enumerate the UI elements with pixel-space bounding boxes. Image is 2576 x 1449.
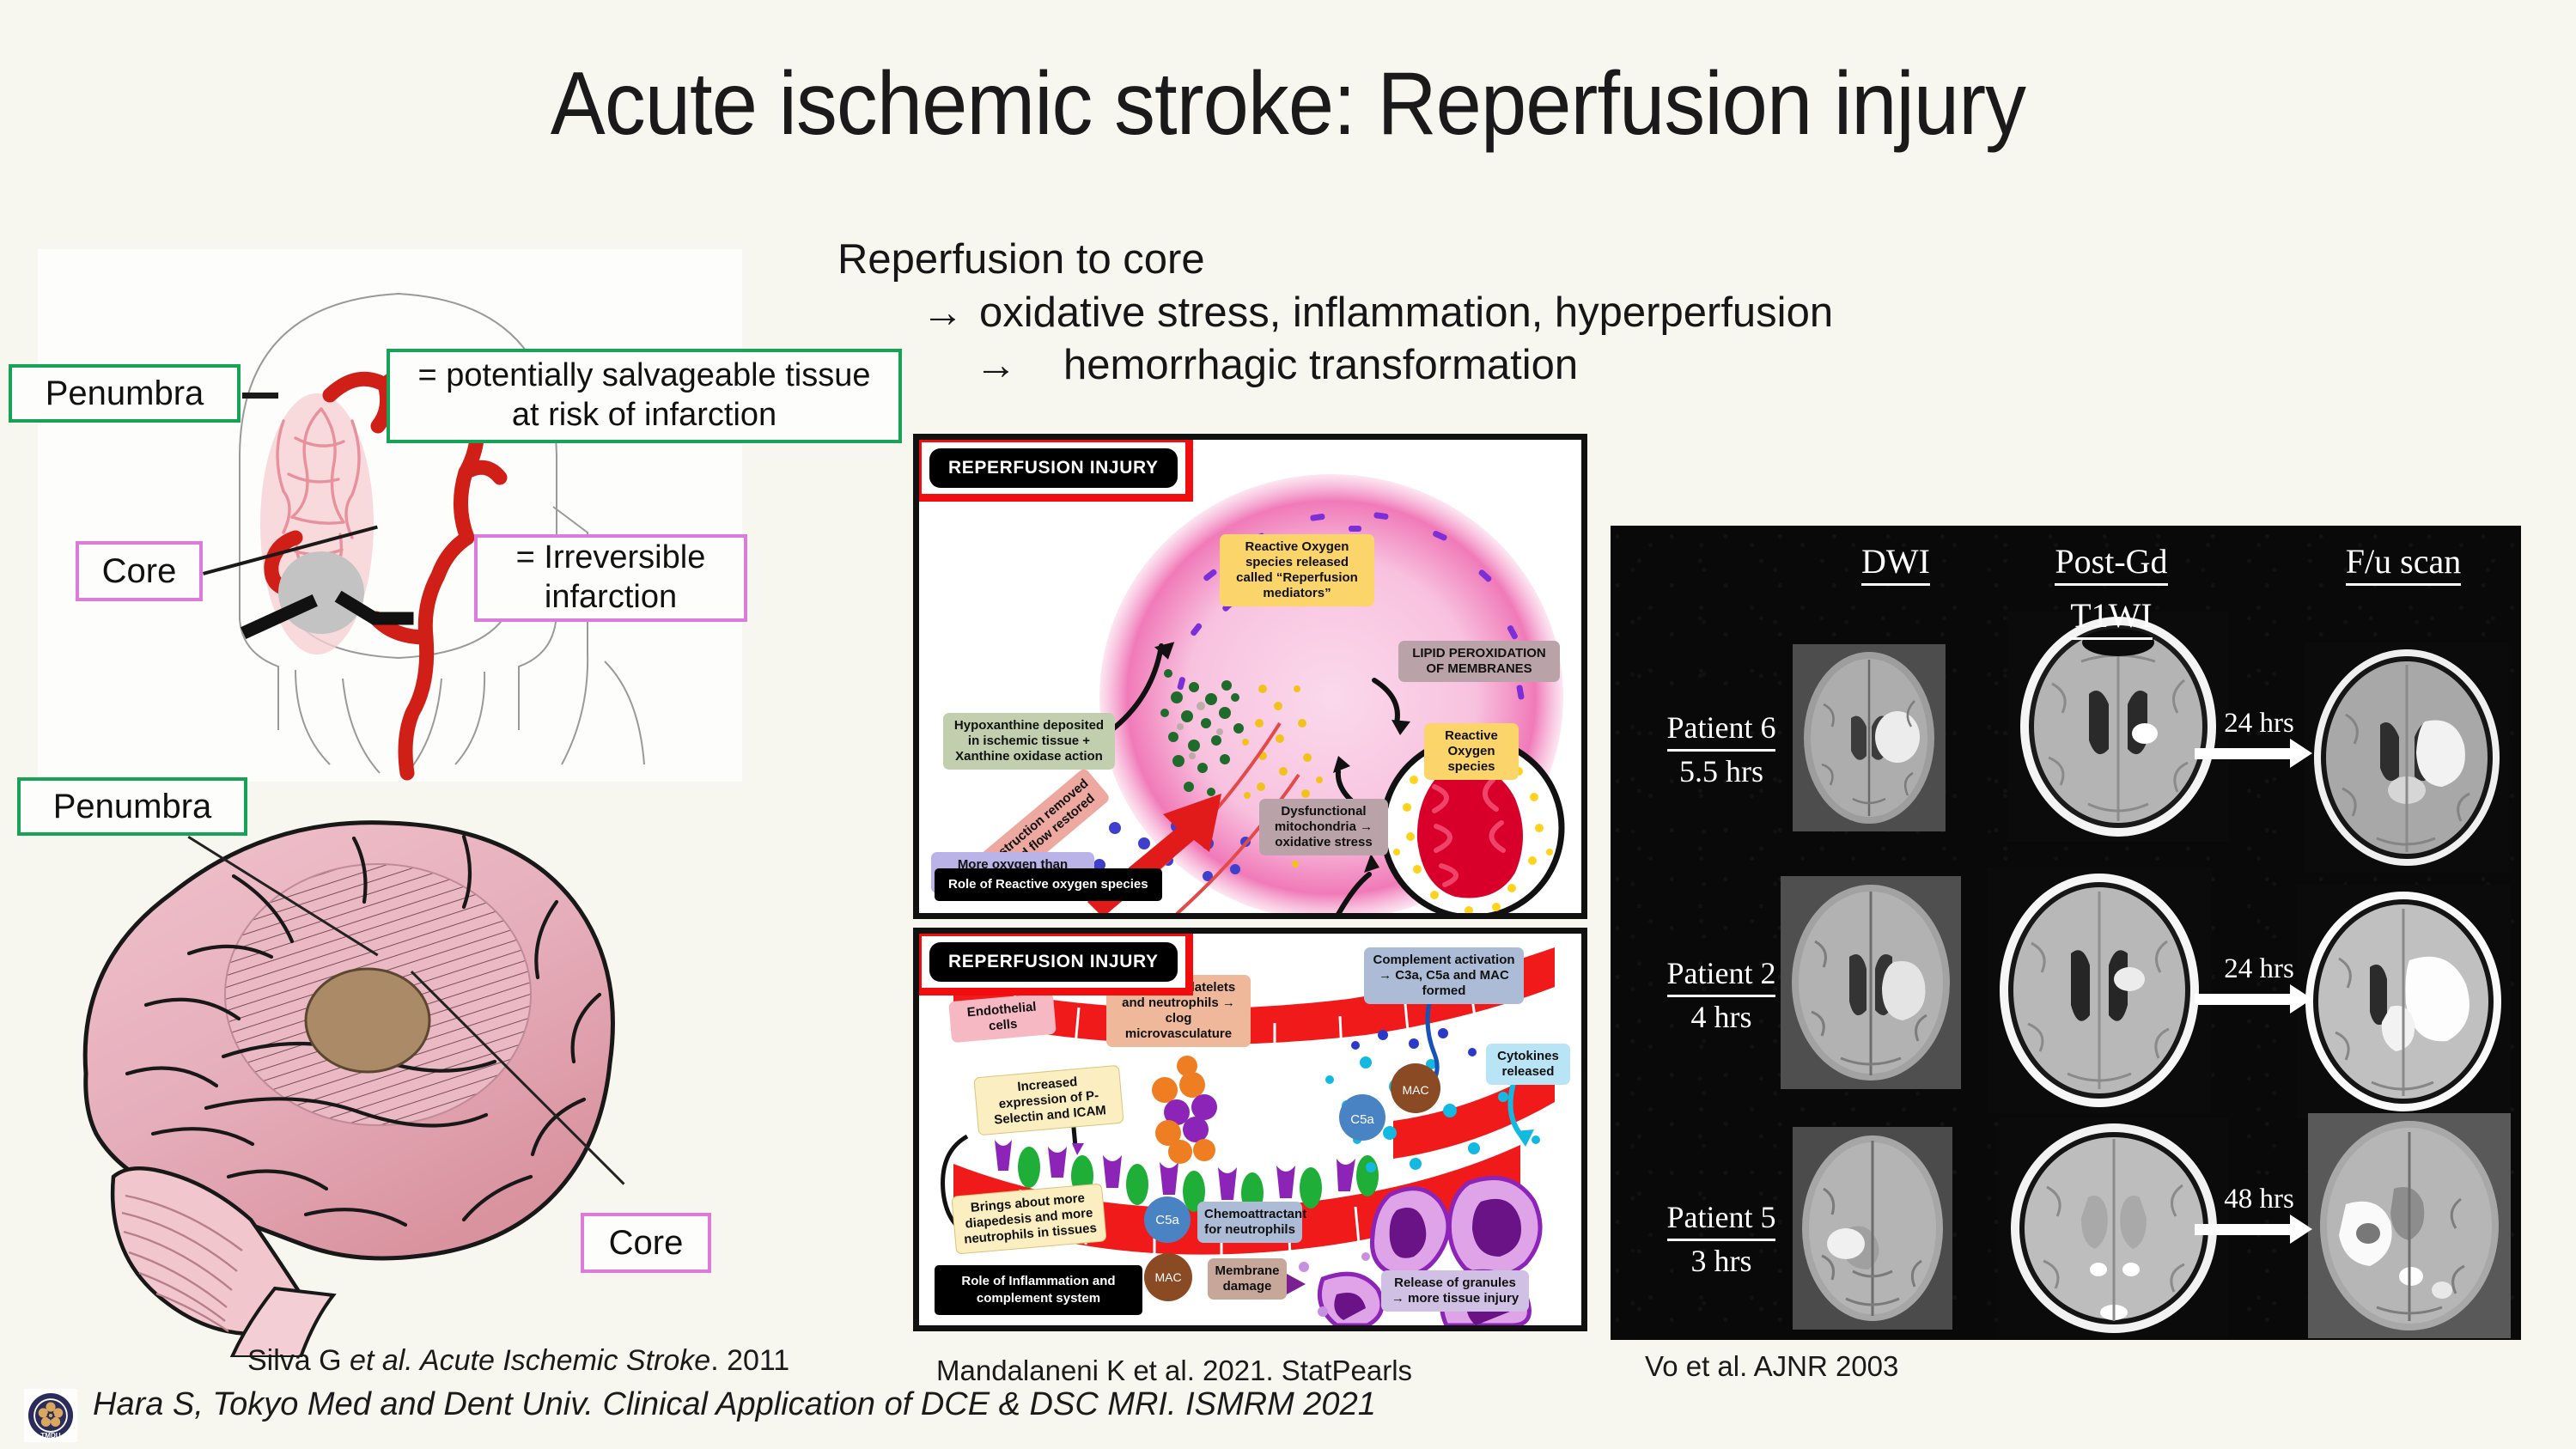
reperfusion-injury-inflammation-figure: C5a MAC	[913, 928, 1587, 1331]
body-text-block: Reperfusion to core →oxidative stress, i…	[837, 234, 1833, 393]
mri-column-header-t1wi-label: T1WI	[2070, 595, 2153, 640]
arrow-right-icon	[2195, 748, 2291, 759]
mri-arrow-p6: 24 hrs	[2195, 708, 2323, 759]
tag-dysfunctional-mitochondria: Dysfunctional mitochondria → oxidative s…	[1259, 799, 1388, 855]
mri-column-header-postgd-label: Post-Gd	[2055, 541, 2167, 586]
footer-attribution: Hara S, Tokyo Med and Dent Univ. Clinica…	[93, 1386, 1376, 1423]
caption-silva: Silva G et al. Acute Ischemic Stroke. 20…	[247, 1344, 789, 1378]
mri-arrow-p2: 24 hrs	[2195, 953, 2323, 1005]
head-diagram-panel	[38, 249, 742, 782]
inflammation-figure-canvas: C5a MAC	[919, 934, 1581, 1325]
mri-row-patient-5-time: 3 hrs	[1623, 1241, 1820, 1281]
tag-reactive-oxygen-species: Reactive Oxygen species	[1424, 723, 1519, 780]
body-line-2-text: oxidative stress, inflammation, hyperper…	[979, 289, 1833, 336]
mri-comparison-panel: DWI Post-Gd T1WI F/u scan Patient 6 5.5 …	[1611, 526, 2521, 1340]
callout-irreversible-infarction: = Irreversible infarction	[474, 534, 747, 622]
svg-text:MAC: MAC	[1402, 1083, 1428, 1097]
mri-row-patient-6-time: 5.5 hrs	[1623, 752, 1820, 791]
reperfusion-injury-badge-label: REPERFUSION INJURY	[929, 448, 1178, 488]
mri-row-label-patient-6: Patient 6 5.5 hrs	[1623, 708, 1820, 791]
role-badge-reactive-oxygen-species: Role of Reactive oxygen species	[935, 868, 1162, 901]
mri-row-patient-5-name: Patient 5	[1667, 1197, 1776, 1241]
tag-reactive-oxygen-mediators: Reactive Oxygen species released called …	[1220, 534, 1374, 606]
mri-scan-postgd-p2	[1987, 868, 2212, 1113]
legend-c5a-circle: C5a	[1144, 1196, 1191, 1243]
mri-column-header-dwi: DWI	[1810, 541, 1982, 586]
mri-arrow-p5-label: 48 hrs	[2195, 1184, 2323, 1215]
caption-vo: Vo et al. AJNR 2003	[1645, 1350, 1898, 1383]
mri-row-patient-6-name: Patient 6	[1667, 708, 1776, 752]
page-title: Acute ischemic stroke: Reperfusion injur…	[103, 53, 2473, 155]
mri-row-label-patient-2: Patient 2 4 hrs	[1623, 953, 1820, 1037]
mri-scan-fu-p6	[2305, 642, 2509, 873]
callout-core-head: Core	[76, 541, 203, 601]
body-line-1: Reperfusion to core	[837, 234, 1833, 287]
mri-arrow-p5: 48 hrs	[2195, 1184, 2323, 1235]
mri-row-label-patient-5: Patient 5 3 hrs	[1623, 1197, 1820, 1281]
reperfusion-injury-badge-frame: REPERFUSION INJURY	[914, 435, 1193, 502]
reperfusion-injury-badge-label: REPERFUSION INJURY	[929, 942, 1178, 982]
mri-column-header-dwi-label: DWI	[1861, 541, 1930, 586]
head-diagram-svg	[38, 249, 742, 782]
reperfusion-injury-ros-figure: REPERFUSION INJURY Reactive Oxygen speci…	[913, 434, 1587, 919]
mri-scan-fu-p5	[2308, 1113, 2511, 1338]
svg-text:C5a: C5a	[1350, 1112, 1374, 1127]
tag-hypoxanthine-xanthine-oxidase: Hypoxanthine deposited in ischemic tissu…	[943, 713, 1115, 770]
mri-column-header-fu-scan-label: F/u scan	[2346, 541, 2461, 586]
arrow-icon: →	[975, 339, 1017, 393]
caption-silva-year: . 2011	[710, 1344, 789, 1377]
mri-column-header-fu-scan: F/u scan	[2313, 541, 2494, 586]
mri-scan-fu-p2	[2296, 885, 2511, 1118]
svg-text:TMDU: TMDU	[40, 1432, 60, 1440]
ros-figure-canvas: REPERFUSION INJURY Reactive Oxygen speci…	[919, 440, 1581, 913]
body-line-3-text: hemorrhagic transformation	[1063, 342, 1578, 388]
tmdu-logo-icon: TMDU	[24, 1389, 77, 1442]
legend-mac-circle: MAC	[1144, 1253, 1192, 1301]
tag-lipid-peroxidation: LIPID PEROXIDATION OF MEMBRANES	[1398, 641, 1560, 682]
caption-mandalaneni: Mandalaneni K et al. 2021. StatPearls	[936, 1355, 1412, 1387]
mri-arrow-p2-label: 24 hrs	[2195, 953, 2323, 985]
tag-cytokines-released: Cytokines released	[1486, 1044, 1570, 1085]
callout-penumbra-brain: Penumbra	[17, 777, 247, 836]
mri-arrow-p6-label: 24 hrs	[2195, 708, 2323, 740]
tag-chemoattractant-neutrophils: Chemoattractant for neutrophils	[1197, 1202, 1302, 1243]
mri-row-patient-2-time: 4 hrs	[1623, 997, 1820, 1037]
mri-row-patient-2-name: Patient 2	[1667, 953, 1776, 997]
arrow-right-icon	[2195, 994, 2291, 1005]
reperfusion-injury-badge-frame: REPERFUSION INJURY	[914, 928, 1193, 995]
tag-membrane-damage: Membrane damage	[1208, 1258, 1287, 1300]
mri-column-header-postgd-t1wi: Post-Gd T1WI	[2013, 541, 2210, 640]
caption-silva-author: Silva G	[247, 1344, 350, 1377]
caption-silva-title: et al. Acute Ischemic Stroke	[350, 1344, 710, 1377]
callout-salvageable-tissue: = potentially salvageable tissue at risk…	[387, 349, 902, 443]
tag-release-of-granules: Release of granules → more tissue injury	[1381, 1270, 1529, 1312]
body-line-2: →oxidative stress, inflammation, hyperpe…	[837, 287, 1833, 340]
callout-core-brain: Core	[581, 1213, 711, 1273]
slide-canvas: Acute ischemic stroke: Reperfusion injur…	[0, 0, 2576, 1449]
tag-complement-activation: Complement activation → C3a, C5a and MAC…	[1364, 947, 1524, 1004]
role-badge-inflammation-complement: Role of Inflammation and complement syst…	[935, 1265, 1142, 1316]
leader-line-penumbra-head	[242, 393, 278, 399]
body-line-3: →hemorrhagic transformation	[837, 339, 1833, 393]
callout-penumbra-head: Penumbra	[9, 364, 241, 423]
arrow-icon: →	[922, 287, 964, 340]
arrow-right-icon	[2195, 1224, 2291, 1235]
